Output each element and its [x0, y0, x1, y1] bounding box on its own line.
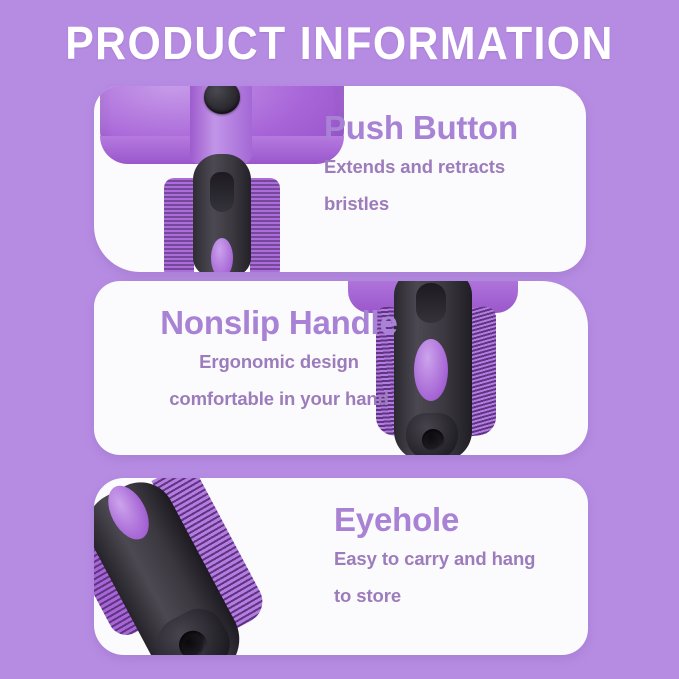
feature-heading: Nonslip Handle	[114, 303, 444, 343]
brush-head-push-button-image	[94, 86, 354, 272]
grip-inset	[210, 172, 234, 212]
feature-card-push-button: Push Button Extends and retracts bristle…	[94, 86, 586, 272]
product-information-poster: PRODUCT INFORMATION Push Button Extends …	[0, 0, 679, 679]
bristles-left	[164, 178, 194, 272]
grip-oval-accent	[211, 238, 233, 272]
feature-body-line-2: to store	[334, 577, 535, 614]
feature-body-line-2: comfortable in your hand	[114, 380, 444, 417]
bristles-right	[250, 178, 280, 272]
feature-heading: Eyehole	[334, 500, 535, 540]
grip-ribs-right	[468, 306, 496, 437]
eyehole-icon	[422, 429, 444, 451]
feature-body-line-1: Easy to carry and hang	[334, 540, 535, 577]
feature-body-line-2: bristles	[324, 185, 518, 222]
feature-card-nonslip-handle: Nonslip Handle Ergonomic design comforta…	[94, 281, 588, 455]
feature-body-line-1: Ergonomic design	[114, 343, 444, 380]
feature-heading: Push Button	[324, 108, 518, 148]
feature-text-push-button: Push Button Extends and retracts bristle…	[324, 108, 518, 222]
feature-text-eyehole: Eyehole Easy to carry and hang to store	[334, 500, 535, 614]
page-title: PRODUCT INFORMATION	[24, 14, 655, 72]
feature-body-line-1: Extends and retracts	[324, 148, 518, 185]
feature-card-eyehole: Eyehole Easy to carry and hang to store	[94, 478, 588, 655]
feature-text-nonslip-handle: Nonslip Handle Ergonomic design comforta…	[114, 303, 444, 417]
